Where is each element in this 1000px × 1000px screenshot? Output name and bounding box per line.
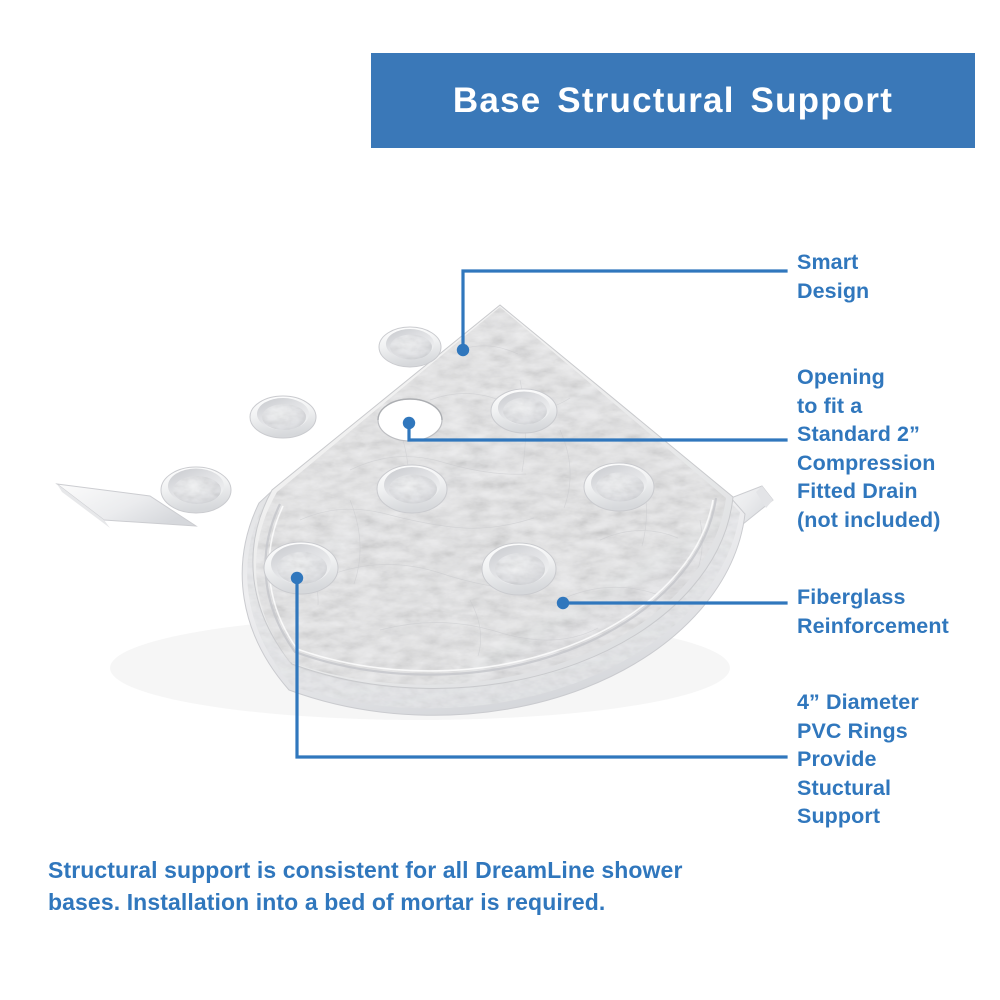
callout-label-fiberglass: Fiberglass Reinforcement bbox=[797, 583, 949, 640]
pvc-ring bbox=[491, 389, 557, 433]
pvc-ring bbox=[250, 396, 316, 438]
callout-label-pvc-rings: 4” Diameter PVC Rings Provide Stuctural … bbox=[797, 688, 919, 831]
product-feature-diagram: Base Structural Support Smart Design Ope… bbox=[0, 0, 1000, 1000]
header-banner: Base Structural Support bbox=[371, 53, 975, 148]
drain-opening bbox=[378, 399, 442, 441]
pvc-ring bbox=[264, 542, 338, 594]
pvc-ring bbox=[379, 327, 441, 367]
pvc-ring bbox=[584, 463, 654, 511]
footer-note: Structural support is consistent for all… bbox=[48, 855, 688, 918]
callout-label-drain-opening: Opening to fit a Standard 2” Compression… bbox=[797, 363, 941, 535]
callout-label-smart-design: Smart Design bbox=[797, 248, 869, 305]
page-title: Base Structural Support bbox=[453, 83, 893, 118]
pvc-ring bbox=[482, 543, 556, 595]
pvc-ring bbox=[377, 465, 447, 513]
pvc-ring bbox=[161, 467, 231, 513]
